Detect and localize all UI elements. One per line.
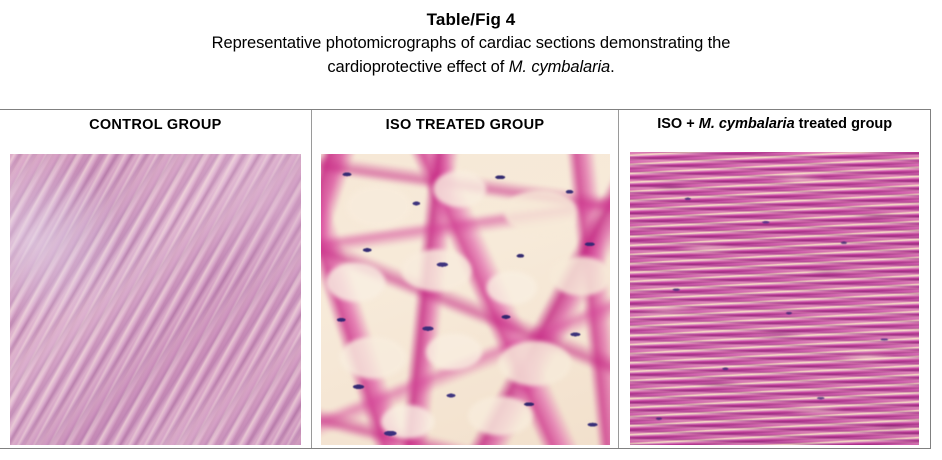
column-header-iso-treated-group: ISO TREATED GROUP	[312, 110, 619, 154]
figure-subtitle-line-2-post: .	[610, 58, 614, 76]
column-header-species-italic: M. cymbalaria	[699, 116, 795, 132]
column-header-suffix: treated group	[795, 116, 892, 132]
iso-treated-group-micrograph	[321, 154, 610, 445]
figure-subtitle-line-1: Representative photomicrographs of cardi…	[212, 34, 731, 52]
figure-subtitle-line-2-pre: cardioprotective effect of	[327, 58, 508, 76]
figure-container: Table/Fig 4 Representative photomicrogra…	[0, 0, 942, 460]
iso-nuclei	[321, 154, 610, 445]
column-header-control-group: CONTROL GROUP	[0, 110, 311, 154]
control-group-micrograph	[10, 154, 301, 445]
micrograph-panel-table: CONTROL GROUP ISO TREATED GROUP	[0, 109, 931, 449]
figure-caption: Table/Fig 4 Representative photomicrogra…	[0, 0, 942, 79]
figure-title: Table/Fig 4	[0, 9, 942, 31]
iso-treated-group-micrograph-image	[321, 154, 610, 445]
column-iso-treated-group: ISO TREATED GROUP	[311, 110, 619, 448]
figure-subtitle: Representative photomicrographs of cardi…	[0, 31, 942, 79]
iso-plus-m-cymbalaria-treated-group-micrograph-image	[630, 152, 919, 445]
treated-nuclei	[630, 152, 919, 445]
control-nuclei	[10, 154, 301, 445]
iso-plus-m-cymbalaria-treated-group-micrograph	[630, 152, 919, 445]
control-group-micrograph-image	[10, 154, 301, 445]
column-iso-plus-m-cymbalaria-treated-group: ISO + M. cymbalaria treated group	[618, 110, 930, 448]
column-header-iso-plus-m-cymbalaria-treated-group: ISO + M. cymbalaria treated group	[619, 110, 930, 154]
column-control-group: CONTROL GROUP	[0, 110, 311, 448]
column-header-iso-treated-group-text: ISO TREATED GROUP	[386, 117, 545, 133]
column-header-prefix: ISO +	[657, 116, 699, 132]
species-name-italic: M. cymbalaria	[509, 58, 610, 76]
column-header-control-group-text: CONTROL GROUP	[89, 117, 222, 133]
